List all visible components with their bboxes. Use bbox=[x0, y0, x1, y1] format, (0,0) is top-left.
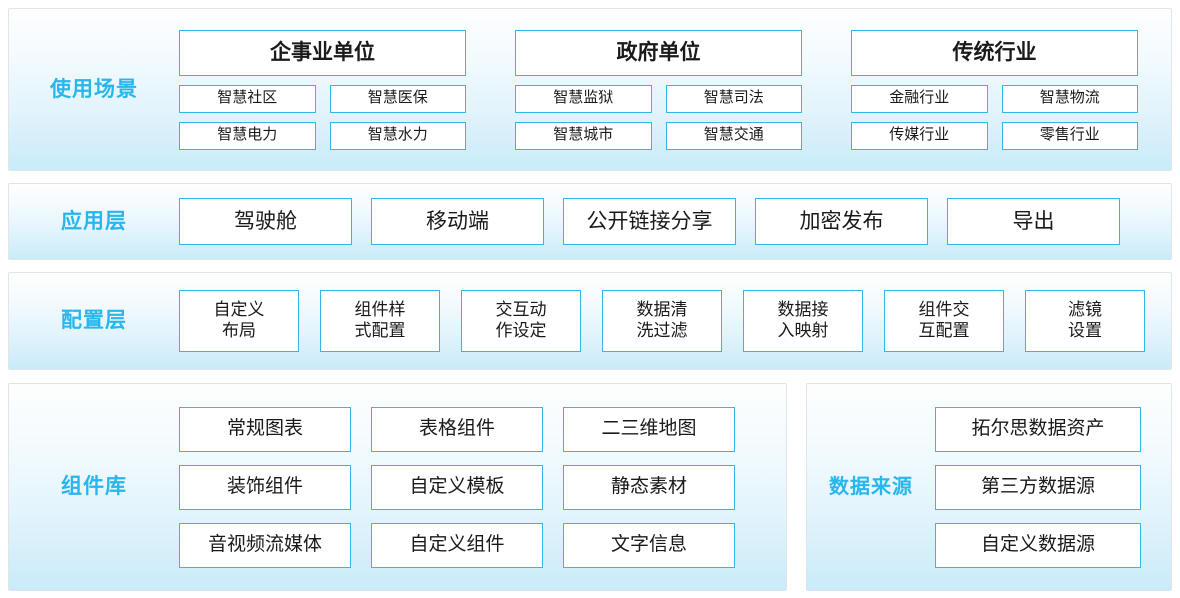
scenario-group-list: 企事业单位 智慧社区 智慧医保 智慧电力 智慧水力 政府单位 智慧监狱 智慧司法… bbox=[179, 30, 1168, 150]
component-item[interactable]: 静态素材 bbox=[563, 465, 735, 510]
panel-component-library: 组件库 常规图表 表格组件 二三维地图 装饰组件 自定义模板 静态素材 音视频流… bbox=[8, 383, 787, 591]
panel-label-data-source: 数据来源 bbox=[807, 475, 935, 499]
application-item[interactable]: 公开链接分享 bbox=[563, 198, 736, 245]
scenario-item[interactable]: 智慧司法 bbox=[666, 85, 803, 113]
component-item[interactable]: 表格组件 bbox=[371, 407, 543, 452]
component-item[interactable]: 自定义模板 bbox=[371, 465, 543, 510]
component-item-grid: 常规图表 表格组件 二三维地图 装饰组件 自定义模板 静态素材 音视频流媒体 自… bbox=[179, 407, 735, 568]
configuration-item[interactable]: 组件交 互配置 bbox=[884, 290, 1004, 352]
scenario-item-grid: 智慧社区 智慧医保 智慧电力 智慧水力 bbox=[179, 85, 466, 150]
component-item[interactable]: 装饰组件 bbox=[179, 465, 351, 510]
configuration-item-list: 自定义 布局 组件样 式配置 交互动 作设定 数据清 洗过滤 数据接 入映射 组… bbox=[179, 290, 1145, 352]
application-item[interactable]: 加密发布 bbox=[755, 198, 928, 245]
scenario-item[interactable]: 智慧城市 bbox=[515, 122, 652, 150]
panel-application-layer: 应用层 驾驶舱 移动端 公开链接分享 加密发布 导出 bbox=[8, 183, 1172, 260]
configuration-item[interactable]: 交互动 作设定 bbox=[461, 290, 581, 352]
scenario-item[interactable]: 智慧医保 bbox=[330, 85, 467, 113]
data-source-item[interactable]: 拓尔思数据资产 bbox=[935, 407, 1141, 452]
scenario-group: 传统行业 金融行业 智慧物流 传媒行业 零售行业 bbox=[851, 30, 1138, 150]
scenario-item[interactable]: 智慧交通 bbox=[666, 122, 803, 150]
panel-data-source: 数据来源 拓尔思数据资产 第三方数据源 自定义数据源 bbox=[806, 383, 1172, 591]
scenario-group-title[interactable]: 企事业单位 bbox=[179, 30, 466, 76]
panel-usage-scenario: 使用场景 企事业单位 智慧社区 智慧医保 智慧电力 智慧水力 政府单位 智慧监狱… bbox=[8, 8, 1172, 171]
panel-label-configuration-layer: 配置层 bbox=[9, 308, 179, 333]
configuration-item[interactable]: 组件样 式配置 bbox=[320, 290, 440, 352]
scenario-item[interactable]: 智慧监狱 bbox=[515, 85, 652, 113]
architecture-diagram: 使用场景 企事业单位 智慧社区 智慧医保 智慧电力 智慧水力 政府单位 智慧监狱… bbox=[0, 0, 1180, 598]
application-item-list: 驾驶舱 移动端 公开链接分享 加密发布 导出 bbox=[179, 198, 1120, 245]
configuration-item[interactable]: 自定义 布局 bbox=[179, 290, 299, 352]
application-item[interactable]: 导出 bbox=[947, 198, 1120, 245]
bottom-panel-row: 组件库 常规图表 表格组件 二三维地图 装饰组件 自定义模板 静态素材 音视频流… bbox=[8, 383, 1172, 591]
scenario-item[interactable]: 零售行业 bbox=[1002, 122, 1139, 150]
scenario-group-title[interactable]: 传统行业 bbox=[851, 30, 1138, 76]
scenario-item-grid: 智慧监狱 智慧司法 智慧城市 智慧交通 bbox=[515, 85, 802, 150]
configuration-item[interactable]: 滤镜 设置 bbox=[1025, 290, 1145, 352]
scenario-item[interactable]: 传媒行业 bbox=[851, 122, 988, 150]
scenario-item-grid: 金融行业 智慧物流 传媒行业 零售行业 bbox=[851, 85, 1138, 150]
panel-label-application-layer: 应用层 bbox=[9, 209, 179, 234]
component-item[interactable]: 音视频流媒体 bbox=[179, 523, 351, 568]
data-source-item-list: 拓尔思数据资产 第三方数据源 自定义数据源 bbox=[935, 407, 1141, 568]
panel-label-component-library: 组件库 bbox=[9, 474, 179, 499]
scenario-group-title[interactable]: 政府单位 bbox=[515, 30, 802, 76]
panel-label-usage-scenario: 使用场景 bbox=[9, 77, 179, 102]
application-item[interactable]: 移动端 bbox=[371, 198, 544, 245]
scenario-group: 政府单位 智慧监狱 智慧司法 智慧城市 智慧交通 bbox=[515, 30, 802, 150]
scenario-item[interactable]: 智慧物流 bbox=[1002, 85, 1139, 113]
panel-configuration-layer: 配置层 自定义 布局 组件样 式配置 交互动 作设定 数据清 洗过滤 数据接 入… bbox=[8, 272, 1172, 370]
scenario-item[interactable]: 智慧电力 bbox=[179, 122, 316, 150]
scenario-item[interactable]: 智慧水力 bbox=[330, 122, 467, 150]
configuration-item[interactable]: 数据接 入映射 bbox=[743, 290, 863, 352]
scenario-item[interactable]: 智慧社区 bbox=[179, 85, 316, 113]
application-item[interactable]: 驾驶舱 bbox=[179, 198, 352, 245]
configuration-item[interactable]: 数据清 洗过滤 bbox=[602, 290, 722, 352]
data-source-item[interactable]: 第三方数据源 bbox=[935, 465, 1141, 510]
component-item[interactable]: 常规图表 bbox=[179, 407, 351, 452]
component-item[interactable]: 二三维地图 bbox=[563, 407, 735, 452]
component-item[interactable]: 文字信息 bbox=[563, 523, 735, 568]
scenario-group: 企事业单位 智慧社区 智慧医保 智慧电力 智慧水力 bbox=[179, 30, 466, 150]
component-item[interactable]: 自定义组件 bbox=[371, 523, 543, 568]
scenario-item[interactable]: 金融行业 bbox=[851, 85, 988, 113]
data-source-item[interactable]: 自定义数据源 bbox=[935, 523, 1141, 568]
